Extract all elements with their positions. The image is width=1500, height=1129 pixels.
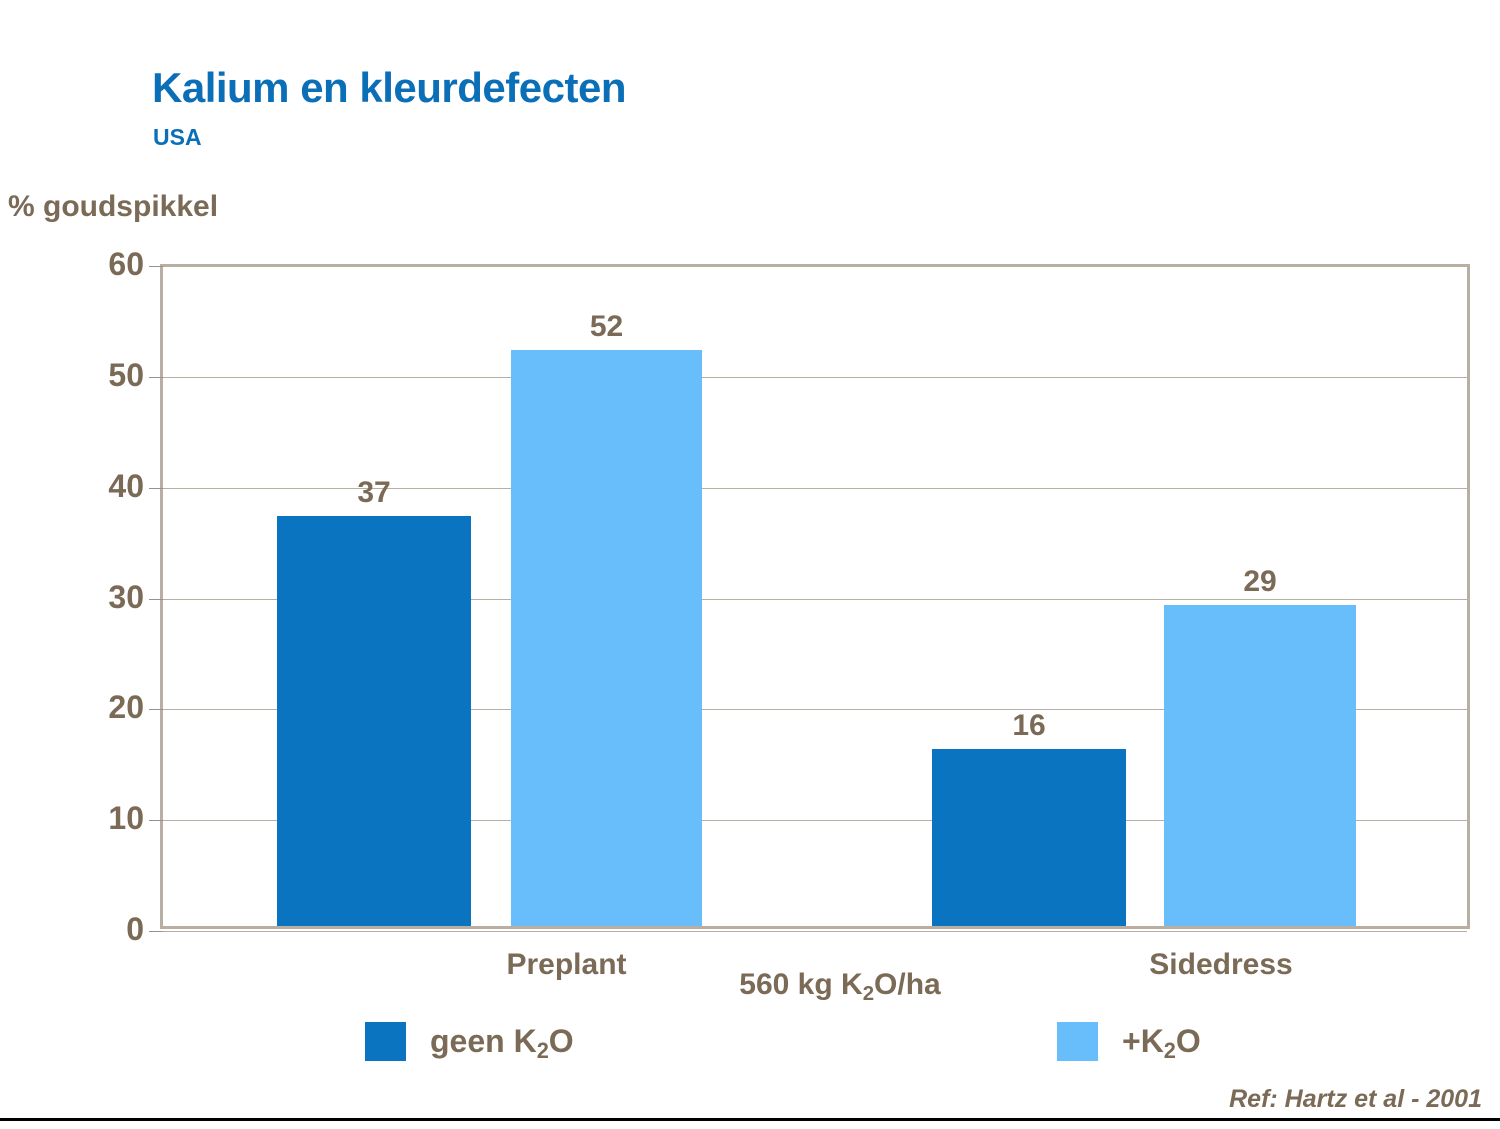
- x-axis-title-pre: 560 kg K: [739, 968, 862, 1001]
- legend-swatch-plus-k2o: [1057, 1022, 1098, 1061]
- legend-label-subscript: 2: [1164, 1038, 1176, 1063]
- y-axis-tick-label: 10: [108, 802, 144, 834]
- x-axis-category-preplant: Preplant: [434, 948, 699, 982]
- y-axis-tick: [149, 599, 163, 600]
- y-axis-tick: [149, 709, 163, 710]
- plot-area: 37521629: [160, 264, 1470, 929]
- y-axis-tick-label: 60: [108, 248, 144, 280]
- y-axis-tick-label: 0: [126, 913, 144, 945]
- reference-note: Ref: Hartz et al - 2001: [1229, 1085, 1482, 1114]
- legend: geen K2O +K2O: [0, 1016, 1500, 1076]
- y-axis-tick-label: 20: [108, 691, 144, 723]
- legend-swatch-geen-k2o: [365, 1022, 406, 1061]
- y-axis-tick-labels: 0102030405060: [40, 264, 144, 929]
- y-axis-tick-label: 40: [108, 470, 144, 502]
- legend-label-pre: geen K: [430, 1023, 537, 1059]
- gridline: [163, 931, 1467, 932]
- y-axis-tick: [149, 820, 163, 821]
- page-subtitle: USA: [153, 124, 202, 151]
- bar[interactable]: [511, 350, 702, 926]
- x-axis-category-sidedress: Sidedress: [1089, 948, 1353, 982]
- y-axis-tick: [149, 488, 163, 489]
- y-axis-title: % goudspikkel: [8, 190, 218, 224]
- legend-label-geen-k2o: geen K2O: [430, 1023, 574, 1060]
- bar-value-label: 29: [1164, 567, 1356, 597]
- x-axis-title-subscript: 2: [863, 983, 874, 1005]
- x-axis-title-post: O/ha: [874, 968, 941, 1001]
- y-axis-tick-label: 30: [108, 581, 144, 613]
- legend-item-plus-k2o[interactable]: +K2O: [1057, 1022, 1201, 1061]
- legend-label-post: O: [1176, 1023, 1201, 1059]
- legend-item-geen-k2o[interactable]: geen K2O: [365, 1022, 574, 1061]
- y-axis-tick: [149, 931, 163, 932]
- bottom-divider: [0, 1118, 1500, 1121]
- bar[interactable]: [277, 516, 471, 926]
- y-axis-tick: [149, 377, 163, 378]
- legend-label-post: O: [549, 1023, 574, 1059]
- bar[interactable]: [1164, 605, 1356, 926]
- legend-label-pre: +K: [1122, 1023, 1164, 1059]
- page-title: Kalium en kleurdefecten: [152, 64, 626, 112]
- y-axis-tick-label: 50: [108, 359, 144, 391]
- bar-value-label: 16: [932, 711, 1126, 741]
- x-axis-title: 560 kg K2O/ha: [700, 968, 980, 1002]
- bar[interactable]: [932, 749, 1126, 926]
- bar-value-label: 52: [511, 312, 702, 342]
- y-axis-tick: [149, 266, 163, 267]
- gridline: [163, 377, 1467, 378]
- bar-value-label: 37: [277, 478, 471, 508]
- legend-label-subscript: 2: [537, 1038, 549, 1063]
- legend-label-plus-k2o: +K2O: [1122, 1023, 1201, 1060]
